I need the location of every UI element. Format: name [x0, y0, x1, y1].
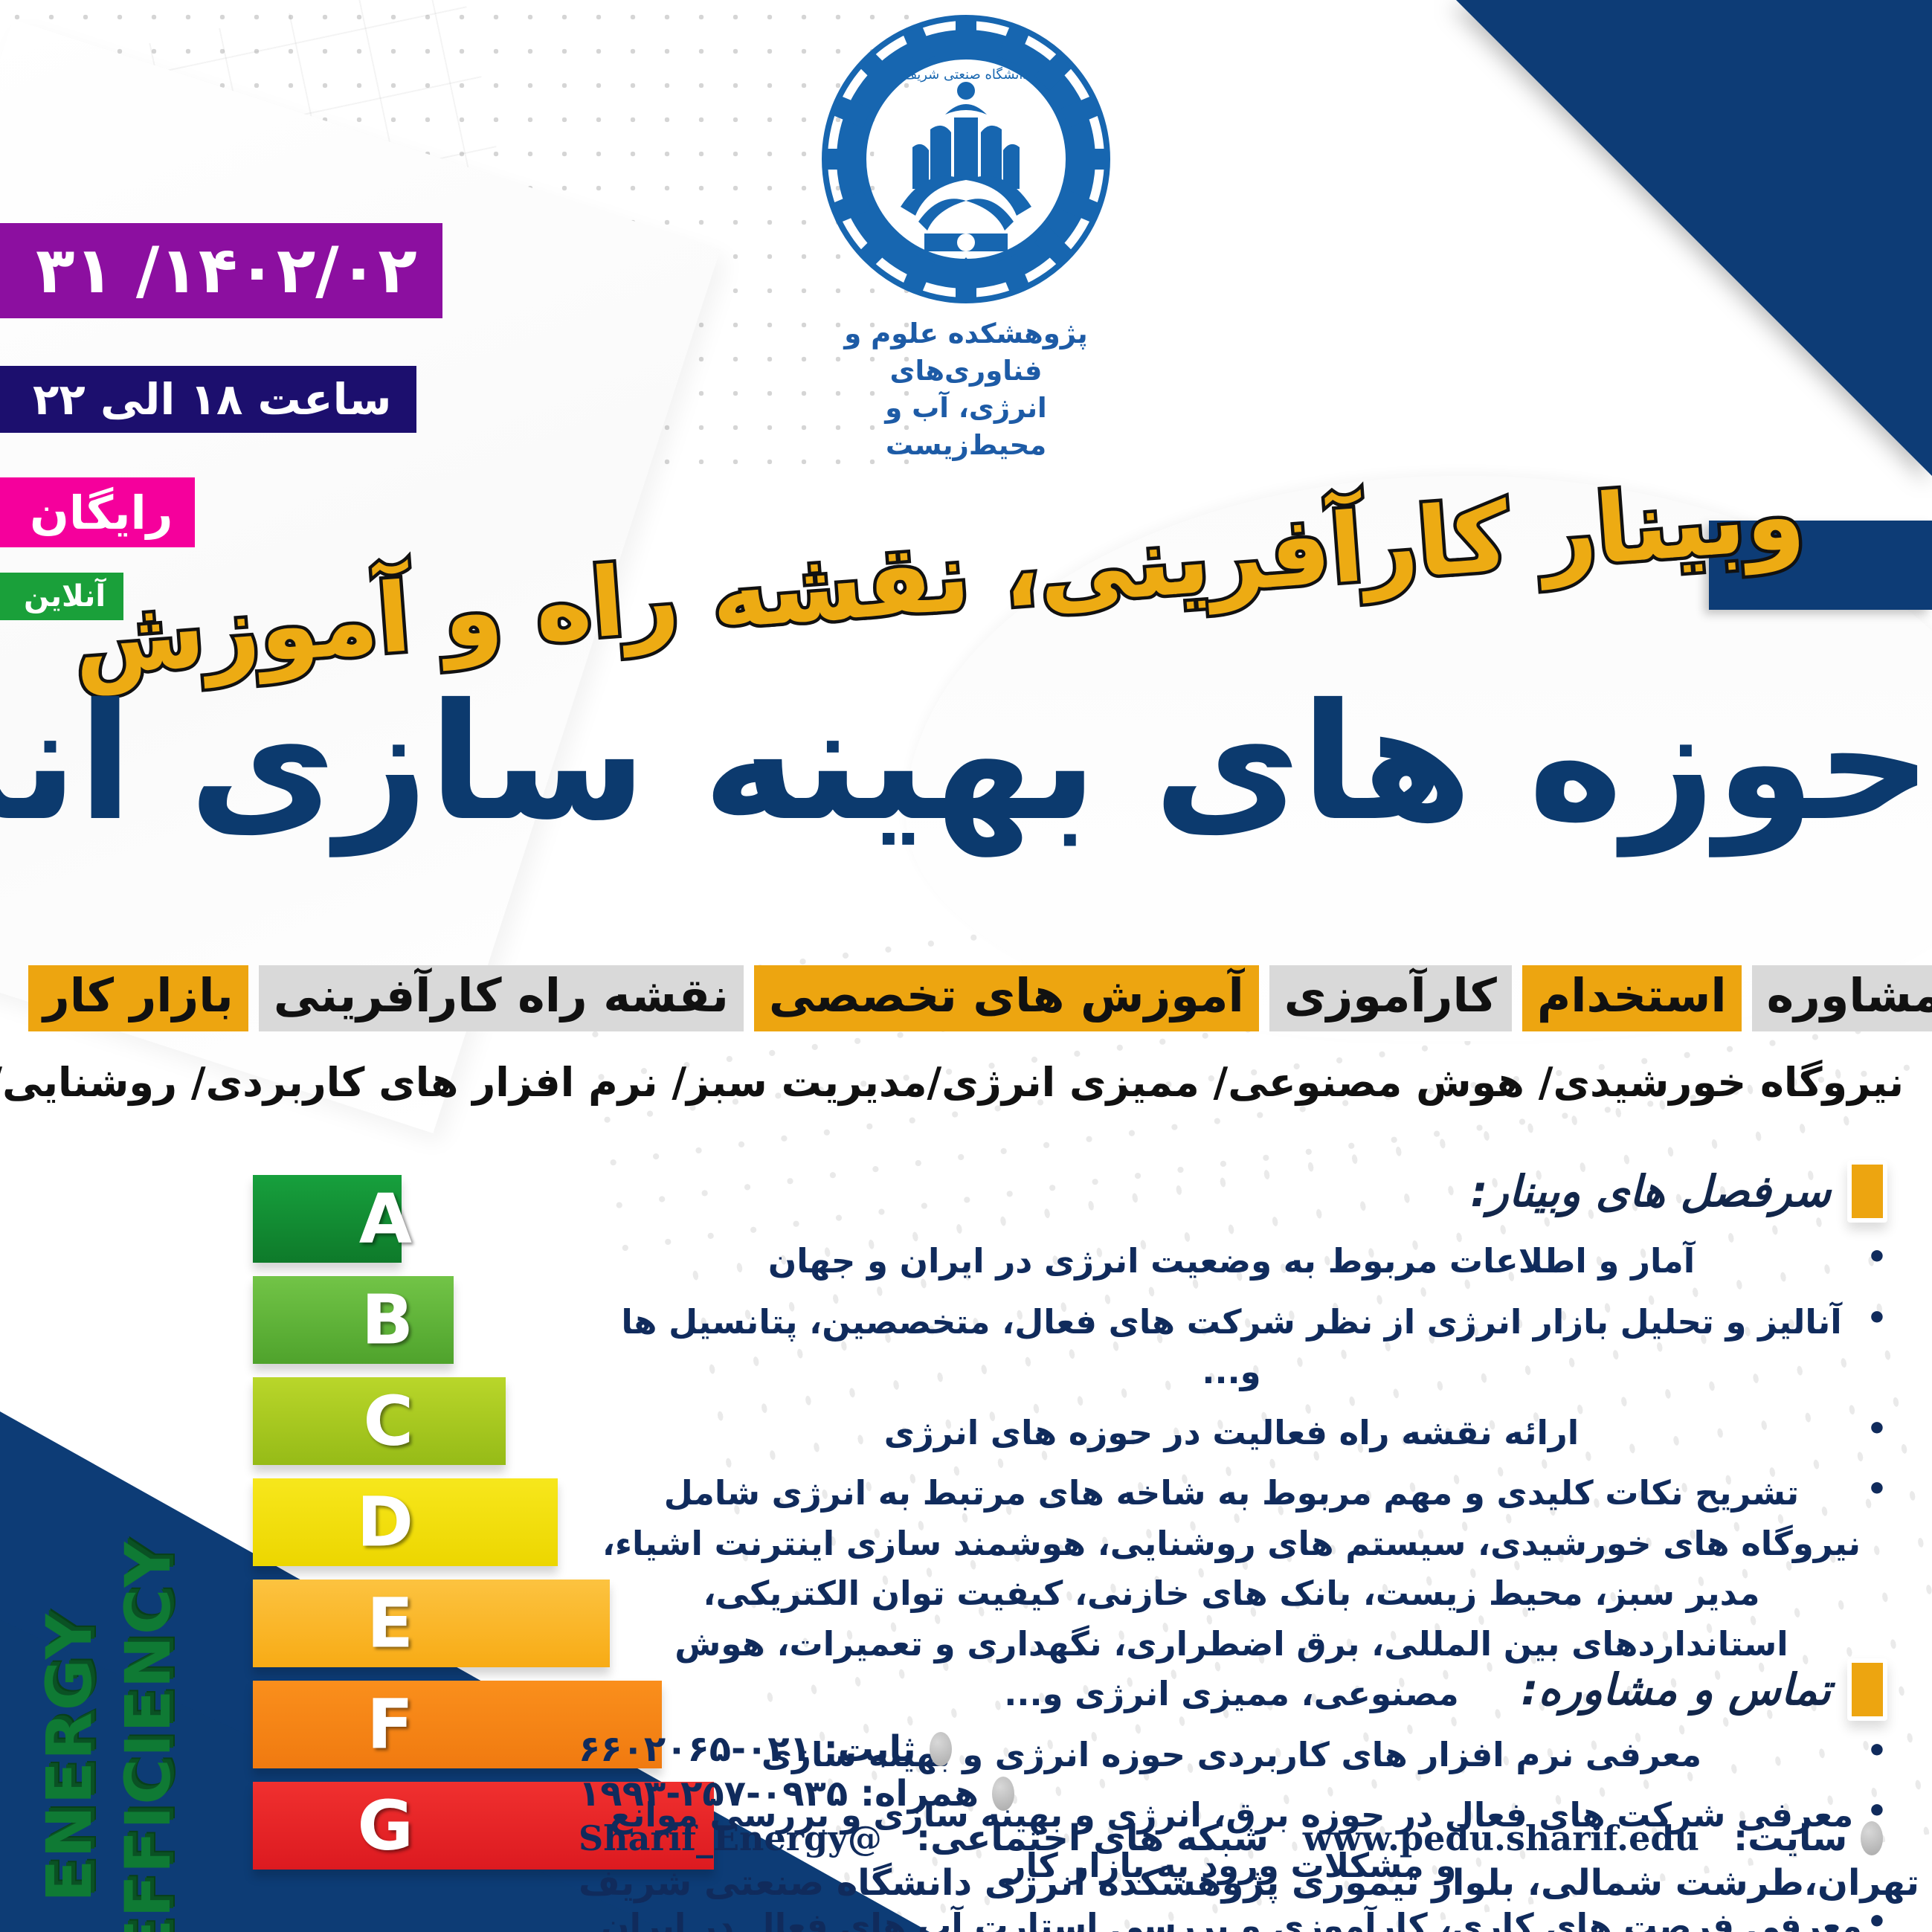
contact-row-mobile: همراه: ۰۹۳۵-۲۵۷-۱۹۹۳ [579, 1773, 1887, 1815]
chart-bar-label-a: A [359, 1179, 412, 1259]
chart-bar-label-c: C [363, 1382, 413, 1461]
list-item: آنالیز و تحلیل بازار انرژی از نظر شرکت ه… [601, 1297, 1887, 1397]
bullet-dot-icon [992, 1777, 1014, 1811]
chip-karamoozi: کارآموزی [1269, 965, 1512, 1031]
mobile-line: همراه: ۰۹۳۵-۲۵۷-۱۹۹۳ [579, 1773, 979, 1815]
chart-bar-label-f: F [367, 1685, 413, 1765]
subject-list-line: نیروگاه خورشیدی/ هوش مصنوعی/ ممیزی انرژی… [28, 1059, 1904, 1106]
chart-bar-label-b: B [361, 1281, 413, 1360]
chart-bar-d: D [253, 1478, 558, 1566]
bullet-dot-icon [930, 1732, 952, 1766]
social-value[interactable]: @Sharif_Energy [579, 1818, 882, 1858]
chart-bar-b: B [253, 1276, 454, 1364]
chart-bar-a: A [253, 1175, 402, 1263]
logo-block: دانشگاه صنعتی شریف پژوهشکده علوم و فناور… [802, 10, 1130, 464]
section-marker-icon [1847, 1160, 1887, 1223]
chip-amoozesh-takhassosi: آموزش های تخصصی [754, 965, 1259, 1031]
page-title: حوزه های بهینه سازی انرژی [0, 669, 1932, 856]
chart-bar-label-g: G [357, 1786, 413, 1866]
institute-line-1: پژوهشکده علوم و فناوری‌های [802, 315, 1130, 390]
address-line: آدرس: تهران،طرشت شمالی، بلوار تیموری پژو… [579, 1862, 1932, 1904]
poster-canvas: دانشگاه صنعتی شریف پژوهشکده علوم و فناور… [0, 0, 1932, 1932]
institute-line-2: انرژی، آب و محیط‌زیست [802, 390, 1130, 464]
chart-bar-e: E [253, 1580, 610, 1667]
chart-bar-c: C [253, 1377, 506, 1465]
institute-name: پژوهشکده علوم و فناوری‌های انرژی، آب و م… [802, 315, 1130, 464]
chart-bar-label-e: E [367, 1584, 413, 1664]
mobile-label: همراه: [860, 1773, 979, 1815]
phone-line: ثابت: ۰۲۱-۶۶۰۲۰۶۵ [579, 1728, 916, 1770]
contact-heading-row: تماس و مشاوره: [579, 1658, 1887, 1721]
contact-row-phone: ثابت: ۰۲۱-۶۶۰۲۰۶۵ [579, 1728, 1887, 1770]
chip-estekhdam: استخدام [1522, 965, 1742, 1031]
social-label: شبکه های اجتماعی: [916, 1817, 1269, 1859]
price-badge: رایگان [0, 477, 195, 547]
bullet-dot-icon [1861, 1821, 1883, 1855]
chip-moshavere: مشاوره [1752, 965, 1932, 1031]
phone-value[interactable]: ۰۲۱-۶۶۰۲۰۶۵ [579, 1728, 811, 1770]
address-value: تهران،طرشت شمالی، بلوار تیموری پژوهشکده … [579, 1862, 1919, 1904]
web-line: سایت: www.pedu.sharif.edu شبکه های اجتما… [579, 1817, 1847, 1859]
chart-axis-label: ENERGY EFFICIENCY [97, 1175, 253, 1904]
sharif-university-gear-logo: دانشگاه صنعتی شریف [817, 10, 1115, 308]
chart-bar-label-d: D [357, 1483, 413, 1562]
site-value[interactable]: www.pedu.sharif.edu [1303, 1818, 1699, 1858]
list-item: ارائه نقشه راه فعالیت در حوزه های انرژی [601, 1408, 1887, 1458]
contact-section: تماس و مشاوره: ثابت: ۰۲۱-۶۶۰۲۰۶۵ همراه: … [579, 1658, 1887, 1907]
contact-heading: تماس و مشاوره: [1521, 1664, 1831, 1715]
topic-chip-row: بازار کار نقشه راه کارآفرینی آموزش های ت… [28, 965, 1904, 1031]
topics-heading-row: سرفصل های وبینار: [601, 1160, 1887, 1223]
chip-naghshe-rah: نقشه راه کارآفرینی [259, 965, 744, 1031]
date-badge: ۱۴۰۲/۰۲/ ۳۱ [0, 223, 442, 318]
list-item: آمار و اطلاعات مربوط به وضعیت انرژی در ا… [601, 1236, 1887, 1287]
phone-label: ثابت: [824, 1728, 916, 1770]
mobile-value[interactable]: ۰۹۳۵-۲۵۷-۱۹۹۳ [579, 1773, 848, 1815]
section-marker-icon [1847, 1658, 1887, 1721]
svg-text:دانشگاه صنعتی شریف: دانشگاه صنعتی شریف [904, 66, 1029, 83]
contact-row-web: سایت: www.pedu.sharif.edu شبکه های اجتما… [579, 1817, 1887, 1859]
time-badge: ساعت ۱۸ الی ۲۲ [0, 366, 416, 433]
chart-label-energy: ENERGY [33, 1612, 106, 1902]
corner-decoration-top-right [1382, 0, 1932, 550]
chip-bazar-kar: بازار کار [28, 965, 248, 1031]
topics-heading: سرفصل های وبینار: [1470, 1166, 1831, 1217]
contact-row-address: آدرس: تهران،طرشت شمالی، بلوار تیموری پژو… [579, 1862, 1887, 1904]
chart-label-efficiency: EFFICIENCY [112, 1541, 184, 1932]
site-label: سایت: [1733, 1817, 1847, 1859]
